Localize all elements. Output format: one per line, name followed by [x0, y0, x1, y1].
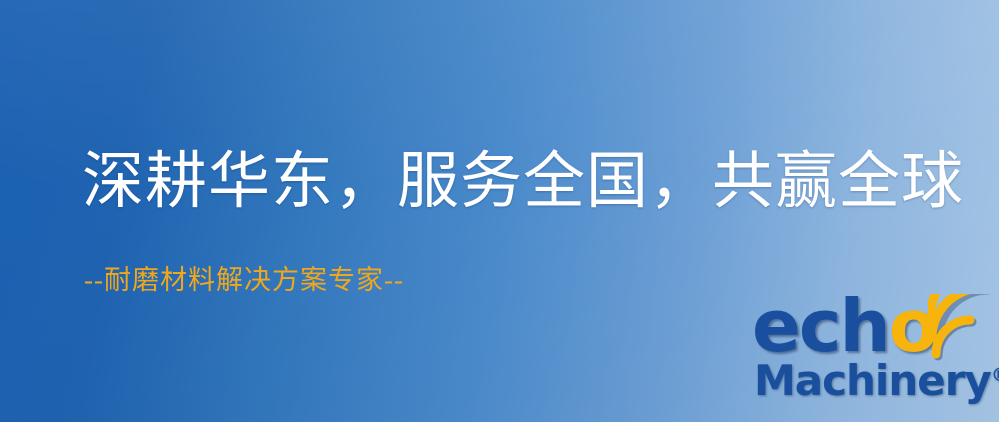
logo-tagline-text: Machinery	[754, 356, 991, 405]
echo-waves-icon	[928, 294, 999, 362]
logo-tagline: Machinery®	[754, 360, 999, 402]
hero-banner: 深耕华东，服务全国，共赢全球 --耐磨材料解决方案专家-- echo Machi…	[0, 0, 999, 422]
echo-machinery-logo[interactable]: echo Machinery®	[752, 296, 999, 422]
registered-trademark-icon: ®	[991, 364, 999, 386]
banner-subtitle: --耐磨材料解决方案专家--	[84, 266, 404, 296]
banner-headline: 深耕华东，服务全国，共赢全球	[82, 150, 964, 215]
logo-wordmark: echo	[752, 290, 936, 362]
